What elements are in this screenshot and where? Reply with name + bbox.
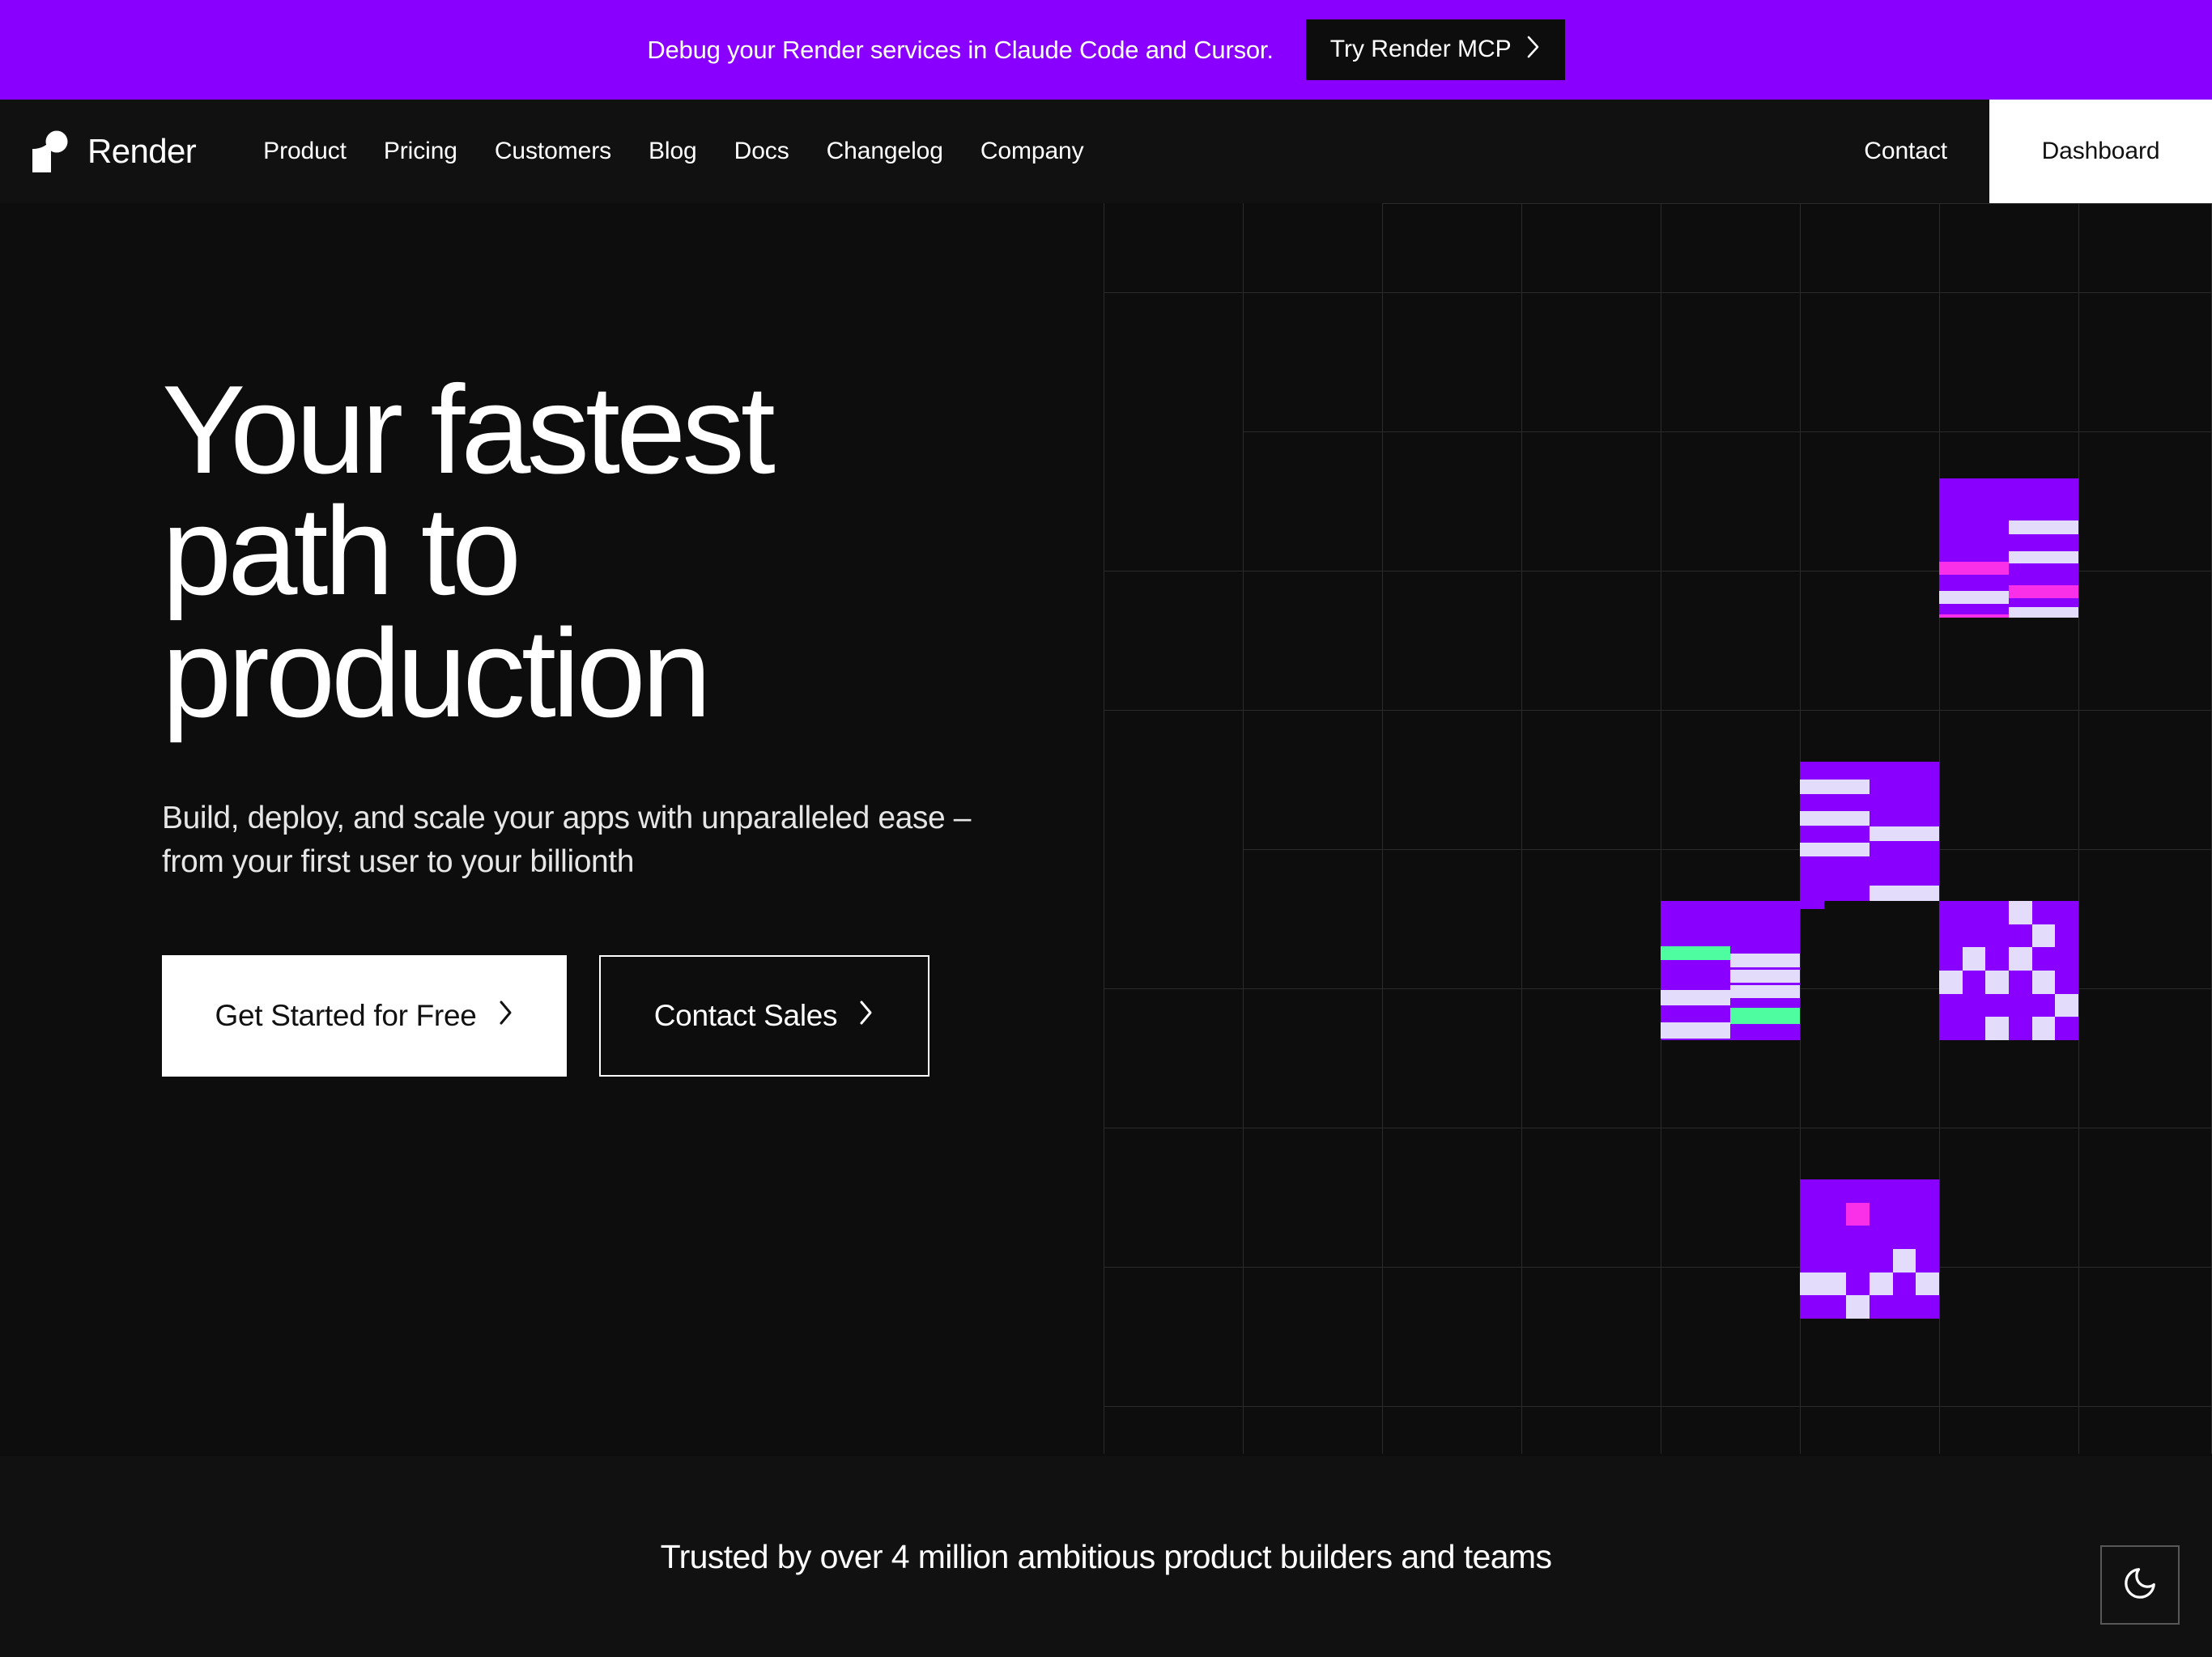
block-top-right bbox=[1939, 478, 2078, 618]
announcement-text: Debug your Render services in Claude Cod… bbox=[647, 36, 1273, 65]
nav-link-docs[interactable]: Docs bbox=[716, 138, 808, 165]
render-logo-icon bbox=[32, 130, 70, 172]
trust-text: Trusted by over 4 million ambitious prod… bbox=[661, 1538, 1552, 1576]
artwork-stripe bbox=[1661, 1022, 1730, 1039]
brand-name: Render bbox=[87, 132, 196, 171]
get-started-button[interactable]: Get Started for Free bbox=[162, 955, 567, 1077]
nav-link-pricing[interactable]: Pricing bbox=[365, 138, 476, 165]
grid-line-vertical bbox=[1243, 203, 1244, 1454]
artwork-stripe bbox=[1800, 811, 1870, 826]
get-started-label: Get Started for Free bbox=[215, 999, 476, 1033]
block-checkerboard bbox=[1939, 901, 2078, 1040]
nav-link-blog[interactable]: Blog bbox=[630, 138, 716, 165]
hero-copy: Your fastest path to production Build, d… bbox=[162, 369, 1214, 1077]
grid-line-horizontal bbox=[1104, 1267, 2212, 1268]
chevron-right-icon bbox=[1526, 35, 1541, 64]
grid-line-horizontal bbox=[1243, 431, 2212, 432]
grid-line-vertical bbox=[2078, 203, 2079, 1454]
grid-line-horizontal bbox=[1104, 571, 2212, 571]
artwork-stripe bbox=[2009, 551, 2078, 563]
grid-line-vertical bbox=[1939, 203, 1940, 1454]
artwork-stripe bbox=[1800, 825, 1812, 837]
artwork-stripe bbox=[2009, 607, 2078, 618]
artwork-stripe bbox=[1730, 985, 1800, 998]
contact-sales-button[interactable]: Contact Sales bbox=[599, 955, 929, 1077]
announcement-bar: Debug your Render services in Claude Cod… bbox=[0, 0, 2212, 100]
grid-line-horizontal bbox=[1382, 203, 2212, 204]
nav-link-contact[interactable]: Contact bbox=[1822, 100, 1989, 203]
artwork-stripe bbox=[1730, 954, 1800, 967]
artwork-stripe bbox=[1939, 591, 2009, 604]
artwork-stripe bbox=[1800, 780, 1870, 794]
grid-line-vertical bbox=[1661, 203, 1661, 1454]
artwork-square bbox=[2009, 901, 2032, 924]
nav-link-customers[interactable]: Customers bbox=[476, 138, 630, 165]
nav-link-product[interactable]: Product bbox=[245, 138, 365, 165]
brand-home-link[interactable]: Render bbox=[0, 100, 245, 203]
artwork-square bbox=[1916, 1272, 1939, 1296]
artwork-square bbox=[1823, 1272, 1847, 1296]
grid-line-horizontal bbox=[1104, 1406, 2212, 1407]
hero-section: Your fastest path to production Build, d… bbox=[0, 203, 2212, 1657]
artwork-stripe bbox=[1730, 1008, 1800, 1024]
artwork-square bbox=[2032, 1017, 2056, 1040]
artwork-stripe bbox=[1800, 886, 1812, 899]
artwork-square bbox=[1800, 1272, 1823, 1296]
artwork-square bbox=[2055, 994, 2078, 1018]
grid-line-horizontal bbox=[1104, 710, 2212, 711]
nav-link-changelog[interactable]: Changelog bbox=[808, 138, 962, 165]
theme-toggle-button[interactable] bbox=[2100, 1545, 2180, 1625]
hero-subtitle: Build, deploy, and scale your apps with … bbox=[162, 797, 1214, 884]
nav-right-group: Contact Dashboard bbox=[1822, 100, 2212, 203]
hero-actions: Get Started for Free Contact Sales bbox=[162, 955, 1214, 1077]
block-thin-column bbox=[1800, 763, 1824, 909]
nav-links: Product Pricing Customers Blog Docs Chan… bbox=[245, 100, 1102, 203]
page-title: Your fastest path to production bbox=[162, 369, 1214, 734]
artwork-square bbox=[2032, 924, 2056, 948]
grid-line-vertical bbox=[1800, 203, 1801, 1454]
artwork-square bbox=[1870, 1272, 1893, 1296]
artwork-stripe bbox=[1939, 614, 2009, 618]
grid-line-vertical bbox=[1521, 203, 1522, 1454]
artwork-stripe bbox=[2009, 520, 2078, 534]
grid-line-horizontal bbox=[1104, 292, 2212, 293]
main-navbar: Render Product Pricing Customers Blog Do… bbox=[0, 100, 2212, 203]
artwork-stripe bbox=[1800, 788, 1812, 802]
announcement-cta-label: Try Render MCP bbox=[1330, 37, 1512, 62]
block-center-stripes bbox=[1800, 762, 1939, 901]
pixel-grid-artwork bbox=[1104, 203, 2212, 1454]
moon-icon bbox=[2121, 1565, 2159, 1606]
artwork-square bbox=[1846, 1203, 1870, 1226]
chevron-right-icon bbox=[858, 999, 874, 1033]
try-render-mcp-button[interactable]: Try Render MCP bbox=[1306, 19, 1565, 80]
artwork-stripe bbox=[1800, 864, 1812, 877]
chevron-right-icon bbox=[498, 999, 514, 1033]
artwork-square bbox=[1963, 947, 1986, 971]
artwork-stripe bbox=[1870, 826, 1939, 841]
grid-line-horizontal bbox=[1243, 849, 2212, 850]
artwork-square bbox=[1939, 971, 1963, 994]
block-bottom bbox=[1800, 1179, 1939, 1319]
artwork-stripe bbox=[1661, 946, 1730, 960]
artwork-stripe bbox=[2009, 585, 2078, 598]
dashboard-button[interactable]: Dashboard bbox=[1989, 100, 2212, 203]
artwork-square bbox=[2032, 971, 2056, 994]
artwork-square bbox=[1846, 1295, 1870, 1319]
artwork-stripe bbox=[1661, 990, 1730, 1005]
grid-line-vertical bbox=[1382, 203, 1383, 1454]
artwork-stripe bbox=[1870, 886, 1939, 901]
contact-sales-label: Contact Sales bbox=[654, 999, 837, 1033]
nav-link-company[interactable]: Company bbox=[962, 138, 1103, 165]
artwork-square bbox=[1985, 971, 2009, 994]
artwork-stripe bbox=[1800, 843, 1870, 856]
block-left-stripes bbox=[1661, 901, 1800, 1040]
artwork-stripe bbox=[1939, 562, 2009, 575]
grid-line-horizontal bbox=[1104, 1128, 2212, 1128]
trust-strip: Trusted by over 4 million ambitious prod… bbox=[0, 1456, 2212, 1657]
artwork-square bbox=[1893, 1249, 1916, 1272]
artwork-square bbox=[1985, 1017, 2009, 1040]
artwork-stripe bbox=[1730, 970, 1800, 983]
artwork-square bbox=[2009, 947, 2032, 971]
grid-line-horizontal bbox=[1104, 988, 2212, 989]
